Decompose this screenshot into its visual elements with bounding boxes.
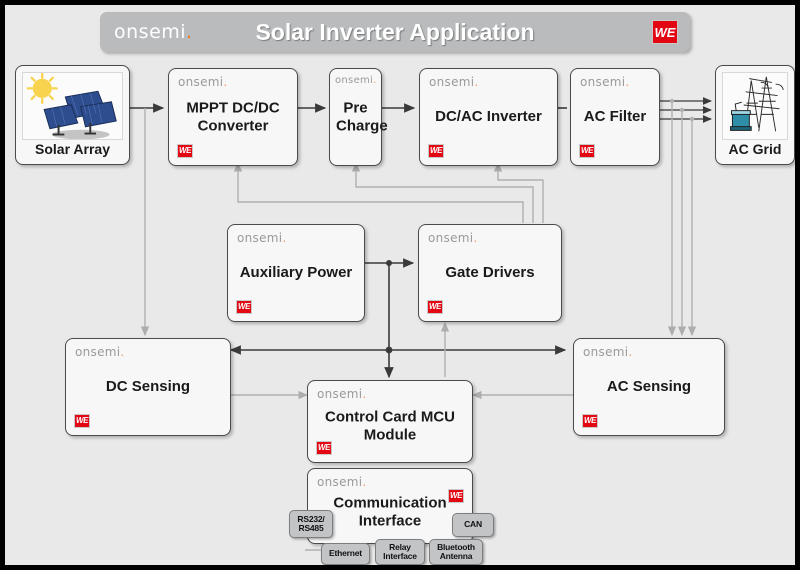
onsemi-logo: onsemi. [75,345,125,359]
block-title: AC Sensing [574,378,724,396]
block-title: Gate Drivers [419,264,561,282]
block-title: AC Grid [716,141,794,158]
onsemi-logo: onsemi. [114,21,193,43]
onsemi-logo: onsemi. [317,475,367,489]
block-title: DC/AC Inverter [420,108,557,126]
diagram-root: onsemi. Solar Inverter Application WE [0,0,800,570]
block-control-card-mcu-module[interactable]: onsemi. Control Card MCU Module WE [307,380,473,463]
we-badge: WE [316,441,332,455]
block-title: Control Card MCU Module [308,409,472,444]
onsemi-logo: onsemi. [583,345,633,359]
tag-bluetooth-antenna[interactable]: Bluetooth Antenna [429,539,483,565]
onsemi-logo: onsemi. [335,75,377,86]
we-badge: WE [236,300,252,314]
tag-rs232-rs485[interactable]: RS232/ RS485 [289,510,333,538]
ac-grid-artwork-frame [722,72,788,140]
solar-array-artwork-frame [22,72,123,140]
block-ac-sensing[interactable]: onsemi. AC Sensing WE [573,338,725,436]
block-title: AC Filter [571,108,659,126]
power-grid-icon [723,73,787,139]
block-title: Auxiliary Power [228,264,364,282]
block-gate-drivers[interactable]: onsemi. Gate Drivers WE [418,224,562,322]
we-logo-badge: WE [652,20,678,44]
title-bar: onsemi. Solar Inverter Application WE [100,12,690,52]
onsemi-logo: onsemi. [178,75,228,89]
diagram-canvas: onsemi. Solar Inverter Application WE [5,5,795,565]
onsemi-logo: onsemi. [580,75,630,89]
block-pre-charge[interactable]: onsemi. Pre Charge [329,68,382,166]
we-badge: WE [74,414,90,428]
block-ac-filter[interactable]: onsemi. AC Filter WE [570,68,660,166]
we-badge: WE [582,414,598,428]
block-mppt-dcdc-converter[interactable]: onsemi. MPPT DC/DC Converter WE [168,68,298,166]
onsemi-logo: onsemi. [317,387,367,401]
block-auxiliary-power[interactable]: onsemi. Auxiliary Power WE [227,224,365,322]
block-title: Solar Array [16,141,129,158]
block-dcac-inverter[interactable]: onsemi. DC/AC Inverter WE [419,68,558,166]
tag-ethernet[interactable]: Ethernet [321,543,370,565]
onsemi-logo: onsemi. [237,231,287,245]
onsemi-logo: onsemi. [429,75,479,89]
block-dc-sensing[interactable]: onsemi. DC Sensing WE [65,338,231,436]
block-title: Pre Charge [330,99,381,134]
we-badge: WE [427,300,443,314]
we-badge: WE [177,144,193,158]
onsemi-logo: onsemi. [428,231,478,245]
we-badge: WE [448,489,464,503]
block-solar-array[interactable]: Solar Array [15,65,130,165]
tag-relay-interface[interactable]: Relay Interface [375,539,425,565]
block-ac-grid[interactable]: AC Grid [715,65,795,165]
we-badge: WE [428,144,444,158]
we-badge: WE [579,144,595,158]
solar-panel-icon [23,73,122,140]
block-title: DC Sensing [66,378,230,396]
block-title: MPPT DC/DC Converter [169,99,297,134]
tag-can[interactable]: CAN [452,513,494,537]
